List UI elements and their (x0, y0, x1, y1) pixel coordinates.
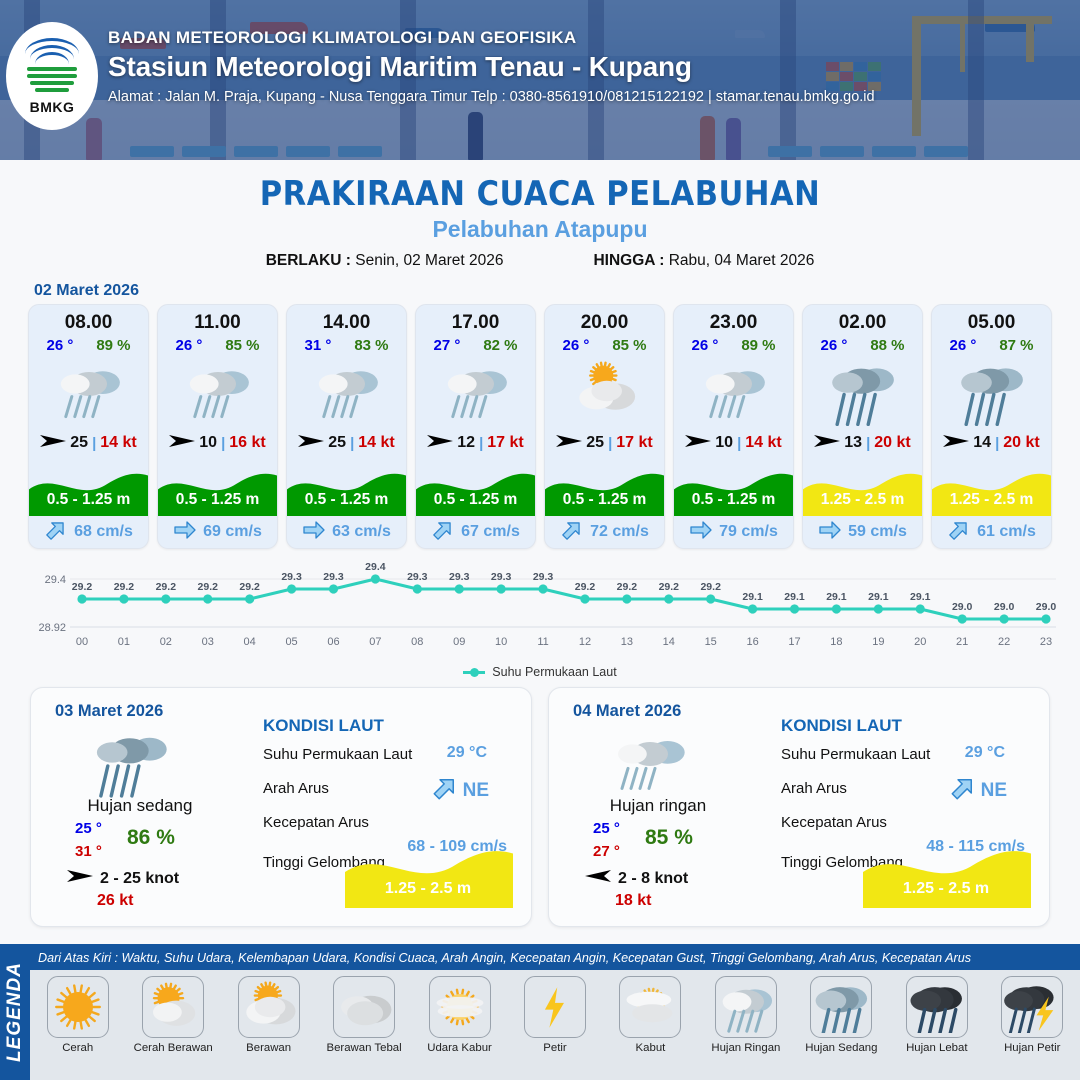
card-current-row: 79 cm/s (674, 516, 793, 548)
card-wave-height: 0.5 - 1.25 m (287, 491, 406, 509)
legend-berawan-tebal-icon (333, 976, 395, 1038)
legend-petir-icon (524, 976, 586, 1038)
daily-forecast-panel: 03 Maret 2026 Hujan sedang 25 ° 31 ° 86 … (30, 687, 532, 927)
panel-condition: Hujan ringan (563, 796, 753, 816)
card-wave-band: 0.5 - 1.25 m (545, 458, 664, 516)
card-temperature: 26 ° (175, 337, 202, 354)
card-temp-hum-row: 26 ° 85 % (545, 337, 664, 354)
card-time: 23.00 (674, 312, 793, 334)
card-weather-hujan-ringan-icon (158, 354, 277, 428)
card-wind-separator: | (866, 435, 870, 452)
current-direction-arrow-icon (431, 774, 459, 807)
svg-text:29.1: 29.1 (826, 591, 847, 603)
legend-item: Berawan Tebal (316, 976, 411, 1054)
card-gust: 14 kt (358, 434, 394, 452)
logo-green-waves-icon (25, 67, 79, 97)
hourly-card: 17.00 27 ° 82 % 12 | 17 kt 0.5 - 1.25 m … (415, 304, 536, 549)
legend-item: Hujan Sedang (794, 976, 889, 1054)
card-temp-hum-row: 31 ° 83 % (287, 337, 406, 354)
valid-until-value: Rabu, 04 Maret 2026 (669, 252, 815, 269)
legend-item: Hujan Ringan (698, 976, 793, 1054)
legend-item-label: Hujan Lebat (906, 1042, 967, 1054)
legend-items-row: Cerah Cerah Berawan Berawan Berawan Teba… (30, 970, 1080, 1080)
svg-text:01: 01 (118, 636, 130, 648)
panel-date: 04 Maret 2026 (573, 702, 681, 721)
card-current-row: 67 cm/s (416, 516, 535, 548)
svg-text:29.2: 29.2 (700, 581, 721, 593)
card-wind-row: 14 | 20 kt (932, 430, 1051, 456)
card-wind-row: 13 | 20 kt (803, 430, 922, 456)
card-temp-hum-row: 26 ° 88 % (803, 337, 922, 354)
card-gust: 20 kt (1003, 434, 1039, 452)
panel-sst-label: Suhu Permukaan Laut (781, 746, 930, 763)
hourly-card: 14.00 31 ° 83 % 25 | 14 kt 0.5 - 1.25 m … (286, 304, 407, 549)
panel-wave-shape-icon (863, 846, 1031, 908)
svg-text:29.1: 29.1 (784, 591, 805, 603)
panel-wind-speed: 2 - 8 knot (618, 870, 688, 888)
card-wind-row: 25 | 14 kt (29, 430, 148, 456)
svg-text:29.1: 29.1 (868, 591, 889, 603)
svg-text:29.2: 29.2 (198, 581, 219, 593)
card-current-row: 63 cm/s (287, 516, 406, 548)
panel-sst-label: Suhu Permukaan Laut (263, 746, 412, 763)
legend-item-label: Kabut (636, 1042, 666, 1054)
card-time: 17.00 (416, 312, 535, 334)
legend-line-marker-icon (463, 671, 485, 674)
card-wave-height: 0.5 - 1.25 m (545, 491, 664, 509)
card-wind-direction: 10 (715, 434, 733, 452)
card-wind-row: 25 | 17 kt (545, 430, 664, 456)
panel-date: 03 Maret 2026 (55, 702, 163, 721)
svg-text:09: 09 (453, 636, 465, 648)
card-wind-separator: | (92, 435, 96, 452)
chart-legend: Suhu Permukaan Laut (0, 665, 1080, 679)
page-header-banner: BMKG BADAN METEOROLOGI KLIMATOLOGI DAN G… (0, 0, 1080, 160)
svg-text:12: 12 (579, 636, 591, 648)
svg-text:29.3: 29.3 (533, 571, 554, 583)
svg-text:29.4: 29.4 (365, 561, 386, 573)
svg-text:29.2: 29.2 (575, 581, 596, 593)
svg-text:29.0: 29.0 (952, 601, 973, 613)
svg-text:21: 21 (956, 636, 968, 648)
legend-item: Udara Kabur (412, 976, 507, 1054)
svg-text:15: 15 (705, 636, 717, 648)
legend-item: Hujan Petir (985, 976, 1080, 1054)
validity-row: BERLAKU : Senin, 02 Maret 2026 HINGGA : … (0, 252, 1080, 270)
svg-text:29.2: 29.2 (239, 581, 260, 593)
card-temperature: 26 ° (562, 337, 589, 354)
panel-humidity: 86 % (127, 826, 175, 850)
card-temperature: 26 ° (46, 337, 73, 354)
station-name: Stasiun Meteorologi Maritim Tenau - Kupa… (108, 51, 875, 83)
svg-text:11: 11 (537, 636, 548, 648)
panel-current-dir-value: NE (463, 780, 489, 802)
card-wind-direction: 10 (199, 434, 217, 452)
card-current-speed: 63 cm/s (332, 523, 391, 541)
card-weather-hujan-sedang-icon (803, 354, 922, 428)
card-current-speed: 72 cm/s (590, 523, 649, 541)
card-gust: 17 kt (616, 434, 652, 452)
hourly-date-label: 02 Maret 2026 (34, 282, 1080, 300)
panel-temp-min: 25 ° (593, 820, 620, 837)
current-direction-arrow-icon (560, 518, 584, 547)
panel-wind-row: 2 - 25 knot (67, 868, 179, 889)
card-wave-band: 0.5 - 1.25 m (416, 458, 535, 516)
panel-temp-max: 31 ° (75, 843, 102, 860)
svg-text:07: 07 (369, 636, 381, 648)
card-weather-hujan-ringan-icon (29, 354, 148, 428)
legend-item-label: Berawan Tebal (327, 1042, 402, 1054)
legend-item: Petir (507, 976, 602, 1054)
svg-text:03: 03 (202, 636, 214, 648)
header-text-block: BADAN METEOROLOGI KLIMATOLOGI DAN GEOFIS… (108, 28, 875, 105)
hourly-card: 08.00 26 ° 89 % 25 | 14 kt 0.5 - 1.25 m … (28, 304, 149, 549)
svg-text:29.1: 29.1 (742, 591, 763, 603)
card-time: 11.00 (158, 312, 277, 334)
card-current-speed: 59 cm/s (848, 523, 907, 541)
card-wave-height: 0.5 - 1.25 m (416, 491, 535, 509)
card-humidity: 89 % (741, 337, 775, 354)
svg-text:17: 17 (788, 636, 800, 648)
panel-wave-value: 1.25 - 2.5 m (871, 880, 1021, 898)
card-current-row: 61 cm/s (932, 516, 1051, 548)
current-direction-arrow-icon (947, 518, 971, 547)
svg-text:29.4: 29.4 (45, 574, 66, 586)
card-wave-height: 0.5 - 1.25 m (29, 491, 148, 509)
daily-forecast-panels: 03 Maret 2026 Hujan sedang 25 ° 31 ° 86 … (0, 679, 1080, 927)
panel-gust: 18 kt (615, 892, 651, 910)
svg-text:29.3: 29.3 (407, 571, 428, 583)
card-gust: 16 kt (229, 434, 265, 452)
legend-item-label: Petir (543, 1042, 566, 1054)
panel-sea-title: KONDISI LAUT (263, 716, 384, 736)
current-direction-arrow-icon (689, 518, 713, 547)
card-wave-band: 0.5 - 1.25 m (674, 458, 793, 516)
legend-item: Cerah (30, 976, 125, 1054)
svg-text:22: 22 (998, 636, 1010, 648)
panel-weather-hujan-sedang-icon (77, 722, 187, 807)
svg-text:13: 13 (621, 636, 633, 648)
legend-item: Kabut (603, 976, 698, 1054)
card-weather-hujan-ringan-icon (674, 354, 793, 428)
card-temp-hum-row: 26 ° 87 % (932, 337, 1051, 354)
card-wind-direction: 25 (586, 434, 604, 452)
svg-text:29.2: 29.2 (156, 581, 177, 593)
card-current-speed: 69 cm/s (203, 523, 262, 541)
panel-wave-shape-icon (345, 846, 513, 908)
agency-name: BADAN METEOROLOGI KLIMATOLOGI DAN GEOFIS… (108, 28, 875, 48)
valid-until-label: HINGGA : (593, 252, 664, 269)
hourly-card: 20.00 26 ° 85 % 25 | 17 kt 0.5 - 1.25 m … (544, 304, 665, 549)
card-wind-direction: 25 (328, 434, 346, 452)
wind-direction-arrow-icon (427, 433, 453, 454)
logo-cloud-arcs-icon (25, 38, 79, 64)
card-current-row: 69 cm/s (158, 516, 277, 548)
hourly-card: 02.00 26 ° 88 % 13 | 20 kt 1.25 - 2.5 m … (802, 304, 923, 549)
card-wave-height: 0.5 - 1.25 m (674, 491, 793, 509)
hourly-card: 23.00 26 ° 89 % 10 | 14 kt 0.5 - 1.25 m … (673, 304, 794, 549)
card-weather-hujan-sedang-icon (932, 354, 1051, 428)
wind-direction-arrow-icon (814, 433, 840, 454)
panel-weather-hujan-ringan-icon (595, 722, 705, 807)
card-temperature: 26 ° (949, 337, 976, 354)
sst-chart-svg: 29.428.9229.20029.20129.20229.20329.2042… (20, 561, 1060, 661)
page-title-block: PRAKIRAAN CUACA PELABUHAN Pelabuhan Atap… (0, 174, 1080, 270)
card-temp-hum-row: 26 ° 89 % (674, 337, 793, 354)
svg-text:29.2: 29.2 (114, 581, 135, 593)
legend-footer: LEGENDA Dari Atas Kiri : Waktu, Suhu Uda… (0, 944, 1080, 1080)
panel-wind-speed: 2 - 25 knot (100, 870, 179, 888)
card-wind-row: 10 | 14 kt (674, 430, 793, 456)
panel-temp-min: 25 ° (75, 820, 102, 837)
card-wind-direction: 13 (844, 434, 862, 452)
card-temp-hum-row: 26 ° 85 % (158, 337, 277, 354)
card-temperature: 26 ° (691, 337, 718, 354)
card-gust: 14 kt (745, 434, 781, 452)
panel-temp-max: 27 ° (593, 843, 620, 860)
panel-current-dir-label: Arah Arus (263, 780, 329, 797)
wind-direction-arrow-icon (685, 433, 711, 454)
panel-current-dir-label: Arah Arus (781, 780, 847, 797)
sst-chart: 29.428.9229.20029.20129.20229.20329.2042… (20, 561, 1060, 661)
card-humidity: 85 % (225, 337, 259, 354)
card-time: 02.00 (803, 312, 922, 334)
svg-text:18: 18 (830, 636, 842, 648)
legend-hujan-sedang-icon (810, 976, 872, 1038)
card-wind-direction: 12 (457, 434, 475, 452)
hourly-card: 05.00 26 ° 87 % 14 | 20 kt 1.25 - 2.5 m … (931, 304, 1052, 549)
panel-current-dir-row: NE (949, 774, 1007, 807)
svg-text:29.0: 29.0 (994, 601, 1015, 613)
card-gust: 17 kt (487, 434, 523, 452)
bmkg-logo: BMKG (6, 22, 98, 130)
legend-side-tab: LEGENDA (0, 944, 30, 1080)
panel-current-dir-value: NE (981, 780, 1007, 802)
current-direction-arrow-icon (302, 518, 326, 547)
legend-side-title: LEGENDA (4, 962, 26, 1062)
svg-text:28.92: 28.92 (38, 622, 66, 634)
card-wave-band: 0.5 - 1.25 m (29, 458, 148, 516)
current-direction-arrow-icon (431, 518, 455, 547)
svg-text:29.0: 29.0 (1036, 601, 1057, 613)
card-humidity: 87 % (999, 337, 1033, 354)
svg-text:16: 16 (746, 636, 758, 648)
current-direction-arrow-icon (949, 774, 977, 807)
panel-wave-value: 1.25 - 2.5 m (353, 880, 503, 898)
wind-direction-arrow-icon (556, 433, 582, 454)
legend-note: Dari Atas Kiri : Waktu, Suhu Udara, Kele… (38, 951, 971, 965)
card-weather-hujan-ringan-icon (287, 354, 406, 428)
card-humidity: 83 % (354, 337, 388, 354)
legend-item-label: Hujan Ringan (711, 1042, 780, 1054)
svg-text:05: 05 (285, 636, 297, 648)
valid-from-value: Senin, 02 Maret 2026 (355, 252, 503, 269)
svg-text:29.2: 29.2 (659, 581, 680, 593)
legend-item: Berawan (221, 976, 316, 1054)
legend-hujan-ringan-icon (715, 976, 777, 1038)
wind-direction-arrow-icon (169, 433, 195, 454)
panel-current-dir-row: NE (431, 774, 489, 807)
card-wind-row: 12 | 17 kt (416, 430, 535, 456)
daily-forecast-panel: 04 Maret 2026 Hujan ringan 25 ° 27 ° 85 … (548, 687, 1050, 927)
logo-text: BMKG (30, 99, 75, 115)
card-wind-separator: | (350, 435, 354, 452)
svg-text:04: 04 (244, 636, 256, 648)
panel-current-speed-label: Kecepatan Arus (781, 814, 887, 831)
svg-text:29.3: 29.3 (323, 571, 344, 583)
legend-item: Hujan Lebat (889, 976, 984, 1054)
panel-gust: 26 kt (97, 892, 133, 910)
valid-from: BERLAKU : Senin, 02 Maret 2026 (266, 252, 504, 270)
card-wind-separator: | (608, 435, 612, 452)
svg-text:29.3: 29.3 (491, 571, 512, 583)
card-current-row: 68 cm/s (29, 516, 148, 548)
legend-hujan-lebat-icon (906, 976, 968, 1038)
svg-text:29.2: 29.2 (617, 581, 638, 593)
legend-series-label: Suhu Permukaan Laut (492, 665, 616, 679)
legend-item-label: Cerah Berawan (134, 1042, 213, 1054)
card-wind-direction: 14 (973, 434, 991, 452)
legend-item-label: Cerah (62, 1042, 93, 1054)
legend-kabut-icon (619, 976, 681, 1038)
card-wind-separator: | (479, 435, 483, 452)
card-wind-separator: | (221, 435, 225, 452)
card-current-speed: 67 cm/s (461, 523, 520, 541)
card-current-row: 72 cm/s (545, 516, 664, 548)
wind-direction-arrow-icon (943, 433, 969, 454)
current-direction-arrow-icon (818, 518, 842, 547)
card-wave-height: 1.25 - 2.5 m (932, 491, 1051, 509)
svg-text:02: 02 (160, 636, 172, 648)
hourly-card: 11.00 26 ° 85 % 10 | 16 kt 0.5 - 1.25 m … (157, 304, 278, 549)
legend-cerah-berawan-icon (142, 976, 204, 1038)
legend-item-label: Udara Kabur (427, 1042, 492, 1054)
legend-item-label: Berawan (246, 1042, 291, 1054)
card-wind-direction: 25 (70, 434, 88, 452)
svg-text:14: 14 (663, 636, 675, 648)
svg-text:00: 00 (76, 636, 88, 648)
panel-sea-title: KONDISI LAUT (781, 716, 902, 736)
card-humidity: 89 % (96, 337, 130, 354)
panel-current-speed-label: Kecepatan Arus (263, 814, 369, 831)
card-weather-berawan-icon (545, 354, 664, 428)
card-temperature: 26 ° (820, 337, 847, 354)
svg-text:29.1: 29.1 (910, 591, 931, 603)
svg-text:10: 10 (495, 636, 507, 648)
valid-from-label: BERLAKU : (266, 252, 351, 269)
current-direction-arrow-icon (44, 518, 68, 547)
panel-sst-value: 29 °C (447, 744, 487, 762)
svg-text:29.3: 29.3 (281, 571, 302, 583)
svg-text:29.3: 29.3 (449, 571, 470, 583)
legend-hujan-petir-icon (1001, 976, 1063, 1038)
card-wind-row: 10 | 16 kt (158, 430, 277, 456)
card-wave-band: 0.5 - 1.25 m (158, 458, 277, 516)
wind-direction-arrow-icon (585, 868, 611, 889)
wind-direction-arrow-icon (298, 433, 324, 454)
card-gust: 20 kt (874, 434, 910, 452)
card-wave-height: 1.25 - 2.5 m (803, 491, 922, 509)
card-time: 20.00 (545, 312, 664, 334)
card-temp-hum-row: 26 ° 89 % (29, 337, 148, 354)
card-temperature: 31 ° (304, 337, 331, 354)
card-humidity: 82 % (483, 337, 517, 354)
card-current-row: 59 cm/s (803, 516, 922, 548)
svg-text:19: 19 (872, 636, 884, 648)
hourly-forecast-row: 08.00 26 ° 89 % 25 | 14 kt 0.5 - 1.25 m … (0, 304, 1080, 549)
legend-item-label: Hujan Petir (1004, 1042, 1060, 1054)
card-current-speed: 79 cm/s (719, 523, 778, 541)
card-time: 08.00 (29, 312, 148, 334)
legend-berawan-icon (238, 976, 300, 1038)
svg-text:06: 06 (327, 636, 339, 648)
card-weather-hujan-ringan-icon (416, 354, 535, 428)
wind-direction-arrow-icon (67, 868, 93, 889)
card-current-speed: 61 cm/s (977, 523, 1036, 541)
station-address: Alamat : Jalan M. Praja, Kupang - Nusa T… (108, 89, 875, 105)
wind-direction-arrow-icon (40, 433, 66, 454)
panel-sst-value: 29 °C (965, 744, 1005, 762)
card-time: 14.00 (287, 312, 406, 334)
legend-item: Cerah Berawan (125, 976, 220, 1054)
valid-until: HINGGA : Rabu, 04 Maret 2026 (593, 252, 814, 270)
card-current-speed: 68 cm/s (74, 523, 133, 541)
current-direction-arrow-icon (173, 518, 197, 547)
card-gust: 14 kt (100, 434, 136, 452)
card-wave-band: 0.5 - 1.25 m (287, 458, 406, 516)
card-wind-row: 25 | 14 kt (287, 430, 406, 456)
legend-cerah-icon (47, 976, 109, 1038)
page-title: PRAKIRAAN CUACA PELABUHAN (0, 174, 1080, 214)
card-wave-height: 0.5 - 1.25 m (158, 491, 277, 509)
legend-item-label: Hujan Sedang (805, 1042, 877, 1054)
card-wave-band: 1.25 - 2.5 m (803, 458, 922, 516)
card-temp-hum-row: 27 ° 82 % (416, 337, 535, 354)
svg-text:29.2: 29.2 (72, 581, 93, 593)
panel-wind-row: 2 - 8 knot (585, 868, 688, 889)
card-humidity: 88 % (870, 337, 904, 354)
card-temperature: 27 ° (433, 337, 460, 354)
svg-text:08: 08 (411, 636, 423, 648)
svg-text:20: 20 (914, 636, 926, 648)
card-time: 05.00 (932, 312, 1051, 334)
page-subtitle: Pelabuhan Atapupu (0, 216, 1080, 243)
card-humidity: 85 % (612, 337, 646, 354)
panel-condition: Hujan sedang (45, 796, 235, 816)
panel-humidity: 85 % (645, 826, 693, 850)
svg-text:23: 23 (1040, 636, 1052, 648)
card-wave-band: 1.25 - 2.5 m (932, 458, 1051, 516)
card-wind-separator: | (995, 435, 999, 452)
card-wind-separator: | (737, 435, 741, 452)
legend-udara-kabur-icon (429, 976, 491, 1038)
